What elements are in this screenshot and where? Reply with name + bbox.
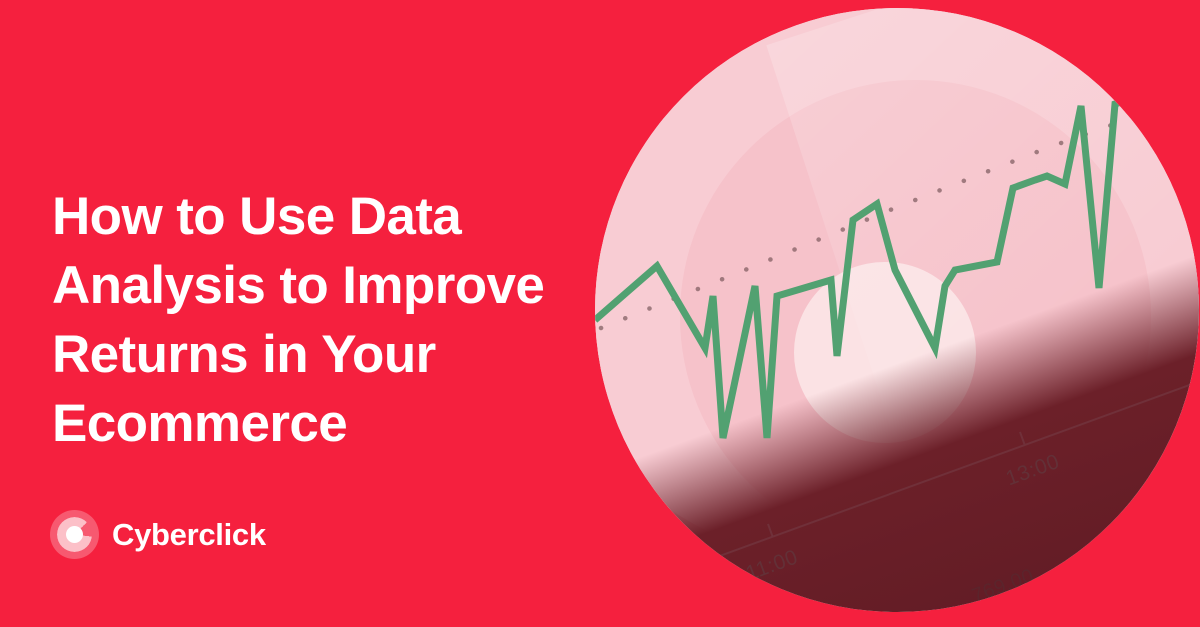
headline-line-1: How to Use Data bbox=[52, 182, 592, 251]
hero-chart-photo: 11:00 13:00 769.00 bbox=[595, 8, 1199, 612]
cyberclick-circle-icon bbox=[50, 510, 99, 559]
headline-line-2: Analysis to Improve bbox=[52, 251, 592, 320]
blog-cover-canvas: 11:00 13:00 769.00 How to Use Data Analy… bbox=[0, 0, 1200, 627]
chart-plot bbox=[595, 8, 1199, 612]
logo-center-dot bbox=[66, 526, 83, 543]
brand-logo-lockup[interactable]: Cyberclick bbox=[50, 510, 266, 559]
chart-trend-dotted-line bbox=[601, 94, 1199, 328]
headline-line-4: Ecommerce bbox=[52, 389, 592, 458]
headline-line-3: Returns in Your bbox=[52, 320, 592, 389]
chart-price-line bbox=[595, 14, 1181, 438]
brand-wordmark: Cyberclick bbox=[112, 519, 266, 550]
page-title: How to Use Data Analysis to Improve Retu… bbox=[52, 182, 592, 458]
